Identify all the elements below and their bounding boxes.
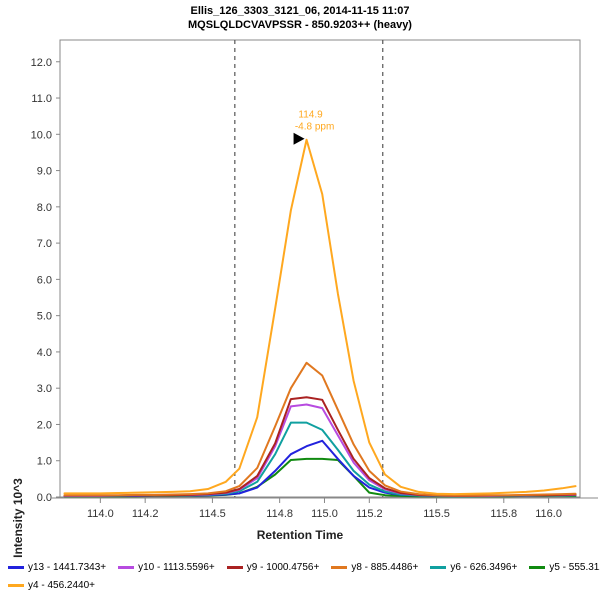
y-tick-label: 0.0: [37, 492, 52, 504]
y-tick-label: 10.0: [31, 129, 52, 141]
y-tick-label: 3.0: [37, 383, 52, 395]
y-axis-label: Intensity 10^3: [11, 478, 25, 558]
x-tick-label: 115.2: [356, 508, 383, 520]
y-axis-label-holder: Intensity 10^3: [16, 270, 17, 271]
legend-item[interactable]: y10 - 1113.5596+: [118, 562, 215, 573]
legend-row: y13 - 1441.7343+y10 - 1113.5596+y9 - 100…: [8, 558, 600, 576]
x-tick-label: 114.0: [87, 508, 114, 520]
annotation-retention-time: 114.9: [298, 110, 323, 121]
legend-item[interactable]: y6 - 626.3496+: [430, 562, 517, 573]
legend-color-swatch: [529, 566, 545, 569]
legend-label: y5 - 555.3125+: [549, 562, 600, 573]
legend-item[interactable]: y9 - 1000.4756+: [227, 562, 320, 573]
x-tick-label: 116.0: [535, 508, 562, 520]
y-tick-label: 4.0: [37, 347, 52, 359]
y-tick-label: 9.0: [37, 166, 52, 178]
legend-item[interactable]: y8 - 885.4486+: [331, 562, 418, 573]
legend-color-swatch: [8, 584, 24, 587]
annotation-mass-error: -4.8 ppm: [295, 122, 334, 133]
legend-label: y4 - 456.2440+: [28, 580, 95, 591]
y-tick-label: 8.0: [37, 202, 52, 214]
legend-item[interactable]: y4 - 456.2440+: [8, 580, 95, 591]
x-tick-label: 114.8: [266, 508, 293, 520]
x-axis-label: Retention Time: [0, 528, 600, 542]
legend-label: y8 - 885.4486+: [351, 562, 418, 573]
legend-label: y10 - 1113.5596+: [138, 562, 215, 573]
legend-label: y6 - 626.3496+: [450, 562, 517, 573]
y-tick-label: 5.0: [37, 311, 52, 323]
x-tick-label: 114.2: [132, 508, 159, 520]
y-tick-label: 11.0: [31, 93, 52, 105]
x-tick-label: 115.5: [423, 508, 450, 520]
legend-color-swatch: [118, 566, 134, 569]
legend-color-swatch: [227, 566, 243, 569]
chromatogram-page: Ellis_126_3303_3121_06, 2014-11-15 11:07…: [0, 0, 600, 600]
legend-color-swatch: [331, 566, 347, 569]
y-tick-label: 7.0: [37, 238, 52, 250]
y-tick-label: 6.0: [37, 274, 52, 286]
y-tick-label: 2.0: [37, 419, 52, 431]
legend[interactable]: y13 - 1441.7343+y10 - 1113.5596+y9 - 100…: [8, 558, 600, 594]
legend-color-swatch: [430, 566, 446, 569]
chart-svg[interactable]: 0.01.02.03.04.05.06.07.08.09.010.011.012…: [0, 0, 600, 545]
legend-item[interactable]: y13 - 1441.7343+: [8, 562, 106, 573]
y-tick-label: 1.0: [37, 456, 52, 468]
plot-area[interactable]: 0.01.02.03.04.05.06.07.08.09.010.011.012…: [0, 0, 600, 600]
x-tick-label: 115.0: [311, 508, 338, 520]
legend-label: y9 - 1000.4756+: [247, 562, 320, 573]
x-tick-label: 114.5: [199, 508, 226, 520]
y-tick-label: 12.0: [31, 57, 52, 69]
legend-row: y4 - 456.2440+: [8, 576, 600, 594]
legend-label: y13 - 1441.7343+: [28, 562, 106, 573]
legend-item[interactable]: y5 - 555.3125+: [529, 562, 600, 573]
x-tick-label: 115.8: [490, 508, 517, 520]
legend-color-swatch: [8, 566, 24, 569]
